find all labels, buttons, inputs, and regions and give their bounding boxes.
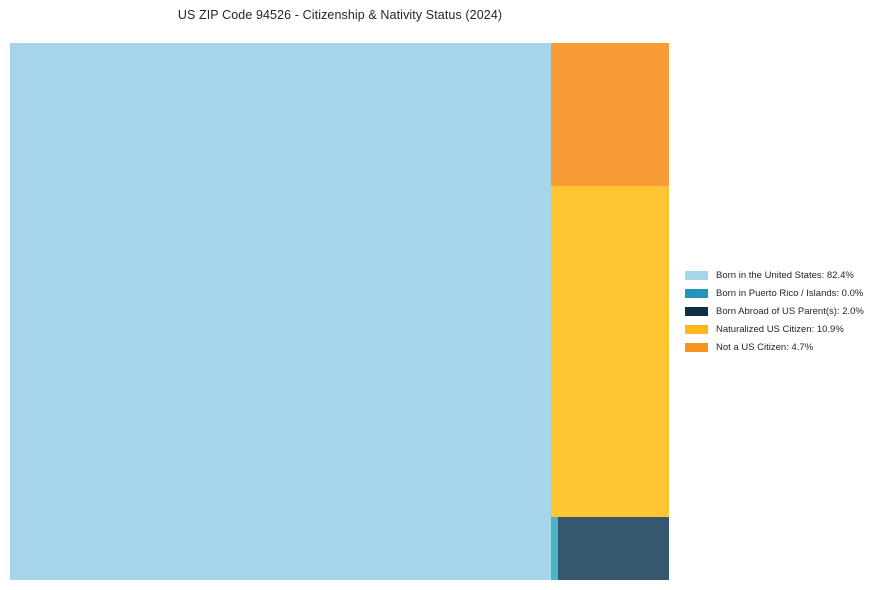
treemap-tile-born-in-the-united-states[interactable] (10, 43, 551, 580)
chart-legend: Born in the United States: 82.4% Born in… (685, 266, 883, 356)
legend-swatch-icon-not-a-us-citizen (685, 343, 708, 352)
legend-item-born-in-the-united-states[interactable]: Born in the United States: 82.4% (685, 266, 883, 284)
legend-label-born-in-puerto-rico-islands: Born in Puerto Rico / Islands: 0.0% (716, 288, 863, 299)
treemap-bottom-row (551, 517, 669, 580)
treemap-right-column (551, 43, 669, 580)
legend-label-born-in-the-united-states: Born in the United States: 82.4% (716, 270, 854, 281)
legend-item-not-a-us-citizen[interactable]: Not a US Citizen: 4.7% (685, 338, 883, 356)
chart-title: US ZIP Code 94526 - Citizenship & Nativi… (0, 8, 680, 22)
legend-item-naturalized-us-citizen[interactable]: Naturalized US Citizen: 10.9% (685, 320, 883, 338)
chart-figure: US ZIP Code 94526 - Citizenship & Nativi… (0, 0, 889, 590)
treemap-plot-area (10, 43, 669, 580)
treemap-tile-born-abroad-of-us-parents[interactable] (558, 517, 669, 580)
legend-label-not-a-us-citizen: Not a US Citizen: 4.7% (716, 342, 813, 353)
treemap-tile-born-in-puerto-rico-islands[interactable] (551, 517, 558, 580)
treemap-tile-naturalized-us-citizen[interactable] (551, 186, 669, 517)
legend-label-born-abroad-of-us-parents: Born Abroad of US Parent(s): 2.0% (716, 306, 864, 317)
legend-swatch-icon-born-abroad-of-us-parents (685, 307, 708, 316)
legend-label-naturalized-us-citizen: Naturalized US Citizen: 10.9% (716, 324, 844, 335)
legend-item-born-abroad-of-us-parents[interactable]: Born Abroad of US Parent(s): 2.0% (685, 302, 883, 320)
legend-swatch-icon-naturalized-us-citizen (685, 325, 708, 334)
legend-item-born-in-puerto-rico-islands[interactable]: Born in Puerto Rico / Islands: 0.0% (685, 284, 883, 302)
treemap-tile-not-a-us-citizen[interactable] (551, 43, 669, 186)
legend-swatch-icon-born-in-the-united-states (685, 271, 708, 280)
legend-swatch-icon-born-in-puerto-rico-islands (685, 289, 708, 298)
